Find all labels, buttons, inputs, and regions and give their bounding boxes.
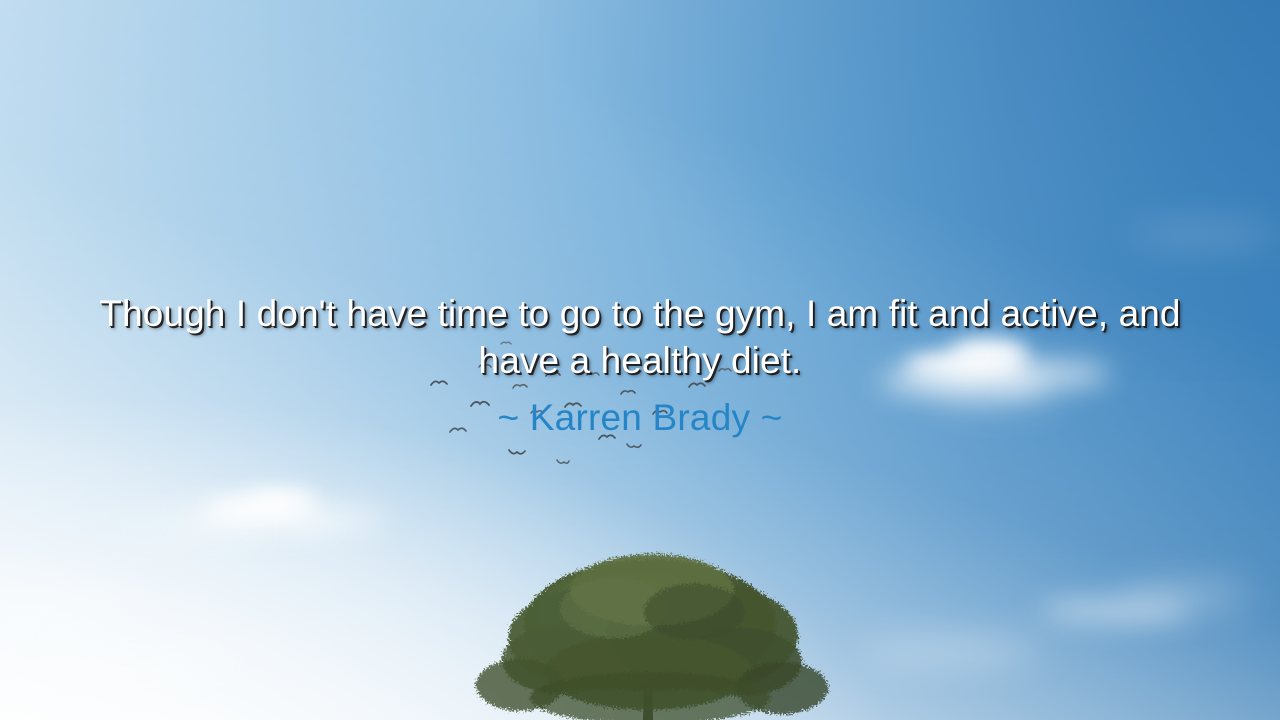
bird-icon <box>626 442 642 450</box>
quote-author: ~ Karren Brady ~ <box>0 384 1280 440</box>
quote-block: Though I don't have time to go to the gy… <box>0 290 1280 440</box>
tree-silhouette <box>0 520 1280 720</box>
quote-text: Though I don't have time to go to the gy… <box>0 290 1280 384</box>
bird-icon <box>508 448 526 457</box>
quote-image-canvas: Though I don't have time to go to the gy… <box>0 0 1280 720</box>
tree-shape <box>0 520 1280 720</box>
tree-canopy <box>476 554 828 720</box>
bird-icon <box>556 458 570 465</box>
